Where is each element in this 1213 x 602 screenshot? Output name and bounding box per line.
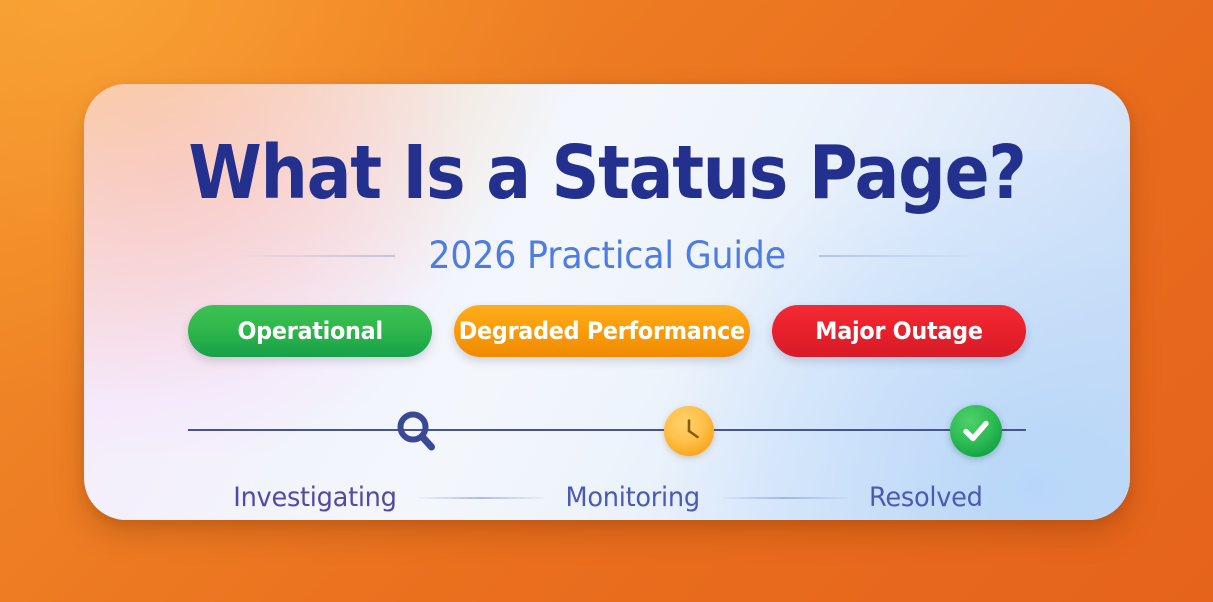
timeline-label-monitoring: Monitoring <box>566 482 700 513</box>
page-subtitle: 2026 Practical Guide <box>428 234 785 277</box>
timeline-step-resolved[interactable] <box>947 402 1005 460</box>
subtitle-rule-right <box>819 255 979 257</box>
timeline-step-monitoring[interactable] <box>660 402 718 460</box>
magnifying-glass-icon <box>392 407 440 455</box>
status-page-card: What Is a Status Page? 2026 Practical Gu… <box>84 84 1130 520</box>
clock-icon <box>669 411 709 451</box>
timeline-label-resolved: Resolved <box>869 482 983 513</box>
timeline-label-row: Investigating Monitoring Resolved <box>188 482 1026 513</box>
status-badge-group: Operational Degraded Performance Major O… <box>84 305 1130 357</box>
timeline-label-rule-2 <box>722 497 848 499</box>
status-badge-degraded-performance[interactable]: Degraded Performance <box>454 305 750 357</box>
subtitle-row: 2026 Practical Guide <box>84 234 1130 277</box>
incident-timeline <box>188 384 1026 484</box>
timeline-label-rule-1 <box>418 497 544 499</box>
timeline-label-investigating: Investigating <box>233 482 396 513</box>
check-circle-icon <box>956 411 996 451</box>
status-badge-major-outage-label: Major Outage <box>815 317 982 345</box>
timeline-step-investigating[interactable] <box>387 402 445 460</box>
page-title: What Is a Status Page? <box>136 136 1077 210</box>
status-badge-major-outage[interactable]: Major Outage <box>772 305 1026 357</box>
subtitle-rule-left <box>235 255 395 257</box>
status-badge-degraded-performance-label: Degraded Performance <box>459 317 745 345</box>
status-badge-operational-label: Operational <box>237 317 382 345</box>
timeline-track <box>188 429 1026 431</box>
status-badge-operational[interactable]: Operational <box>188 305 432 357</box>
poster-background: What Is a Status Page? 2026 Practical Gu… <box>0 0 1213 602</box>
